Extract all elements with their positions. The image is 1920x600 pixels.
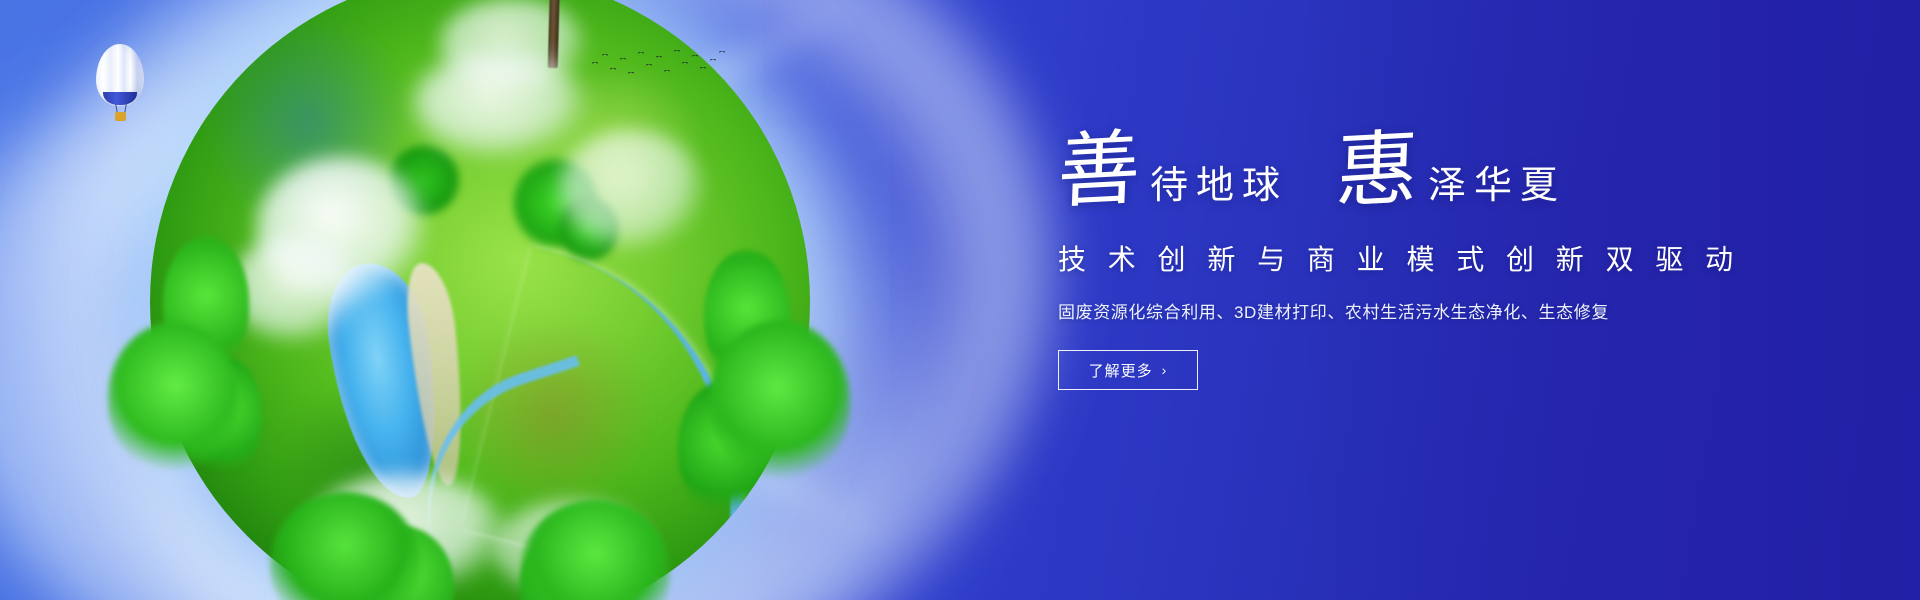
hero-description: 固废资源化综合利用、3D建材打印、农村生活污水生态净化、生态修复: [1058, 298, 1818, 323]
bird-icon: [638, 52, 643, 55]
bird-icon: [664, 70, 669, 73]
hero-banner: 善待地球惠泽华夏 技 术 创 新 与 商 业 模 式 创 新 双 驱 动 固废资…: [0, 0, 1920, 600]
bird-icon: [719, 51, 724, 54]
outer-tree-left: [108, 322, 238, 472]
tiny-planet-artwork: [150, 0, 810, 600]
planet-cloud: [559, 130, 704, 249]
outer-tree-right: [710, 320, 850, 480]
bird-icon: [682, 62, 687, 65]
planet-cloud: [229, 236, 361, 342]
bird-icon: [646, 64, 651, 67]
balloon-basket: [115, 112, 126, 121]
bird-flock: [588, 46, 728, 90]
chevron-right-icon: ›: [1162, 362, 1168, 378]
page-title: 善待地球惠泽华夏: [1058, 130, 1818, 222]
headline-lead-2: 惠: [1334, 128, 1419, 214]
bird-icon: [610, 68, 615, 71]
bird-icon: [692, 55, 697, 58]
bird-icon: [710, 59, 715, 62]
bird-icon: [620, 58, 625, 61]
bird-icon: [700, 67, 705, 70]
hero-copy: 善待地球惠泽华夏 技 术 创 新 与 商 业 模 式 创 新 双 驱 动 固废资…: [1058, 130, 1818, 390]
learn-more-button[interactable]: 了解更多 ›: [1058, 350, 1198, 390]
headline-lead-1: 善: [1056, 128, 1141, 214]
headline-rest-2: 泽华夏: [1428, 167, 1566, 205]
tree-mist: [414, 51, 586, 157]
bird-icon: [674, 50, 679, 53]
learn-more-label: 了解更多: [1089, 360, 1153, 381]
bird-icon: [602, 54, 607, 57]
bird-icon: [592, 62, 597, 65]
bird-icon: [656, 56, 661, 59]
headline-rest-1: 待地球: [1150, 167, 1288, 205]
tree-trunk: [547, 0, 560, 68]
bird-icon: [628, 72, 633, 75]
hot-air-balloon: [96, 44, 144, 130]
hero-subtitle: 技 术 创 新 与 商 业 模 式 创 新 双 驱 动: [1058, 238, 1818, 278]
